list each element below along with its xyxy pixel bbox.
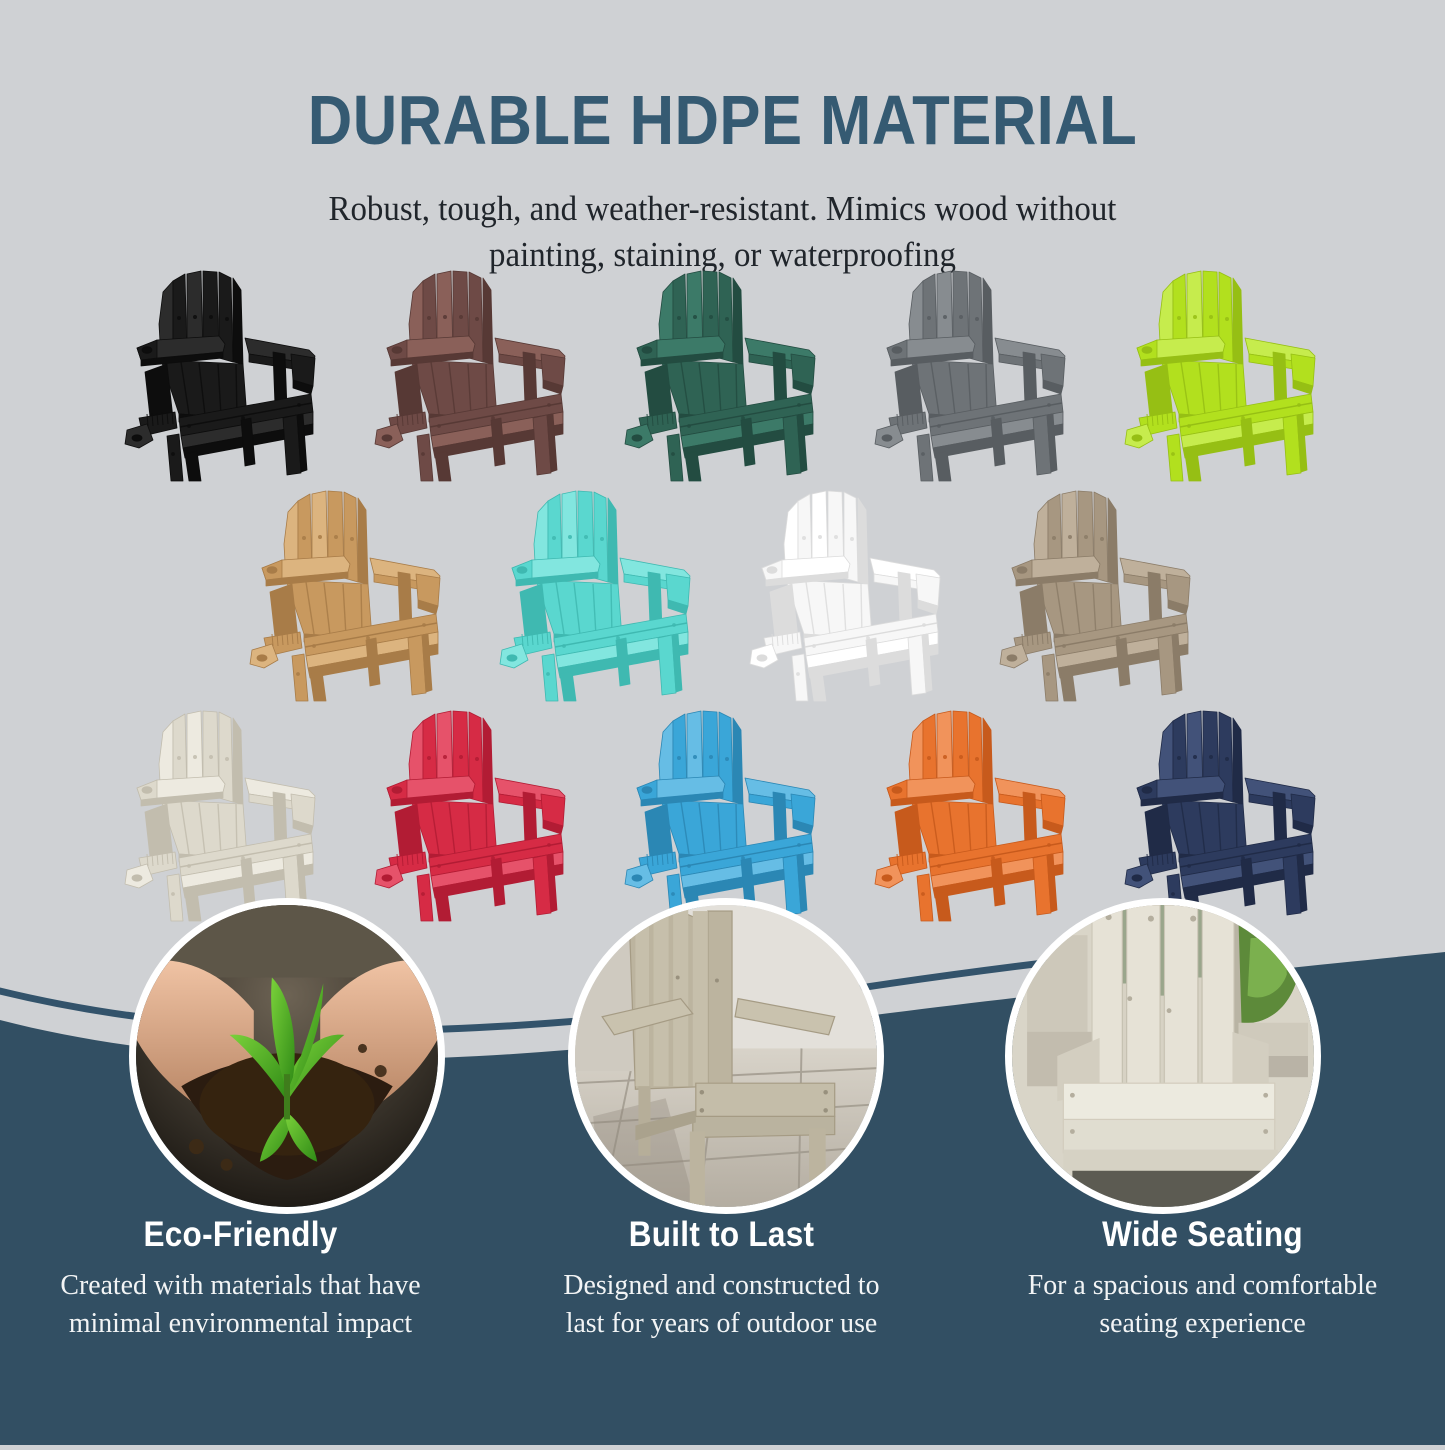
chair-swatch-brown[interactable] <box>348 268 598 483</box>
chair-red <box>348 708 598 923</box>
feature-description: For a spacious and comfortable seating e… <box>991 1267 1414 1342</box>
feature-built-to-last: Built to Last Designed and constructed t… <box>481 1215 962 1342</box>
feature-desc-line-1: Created with materials that have <box>29 1267 452 1305</box>
chair-swatch-white[interactable] <box>723 488 973 703</box>
chair-row-1 <box>0 268 1445 483</box>
feature-title: Wide Seating <box>1004 1215 1401 1255</box>
chair-lime-green <box>1098 268 1348 483</box>
chair-swatch-red[interactable] <box>348 708 598 923</box>
seedling-in-hands-photo <box>129 898 445 1214</box>
chair-turquoise <box>473 488 723 703</box>
chair-teak <box>223 488 473 703</box>
feature-wide-seating: Wide Seating For a spacious and comforta… <box>962 1215 1443 1342</box>
features-row: Eco-Friendly Created with materials that… <box>0 1215 1445 1342</box>
wide-seat-closeup-photo <box>1005 898 1321 1214</box>
chair-gray <box>848 268 1098 483</box>
feature-title: Eco-Friendly <box>42 1215 439 1255</box>
page-title: DURABLE HDPE MATERIAL <box>87 80 1359 160</box>
beige-chair-on-patio-photo <box>568 898 884 1214</box>
chair-swatch-lime-green[interactable] <box>1098 268 1348 483</box>
chair-swatch-dark-green[interactable] <box>598 268 848 483</box>
chair-swatch-weathered-wood[interactable] <box>973 488 1223 703</box>
chair-white <box>723 488 973 703</box>
chair-swatch-teak[interactable] <box>223 488 473 703</box>
feature-description: Created with materials that have minimal… <box>29 1267 452 1342</box>
chair-swatch-ivory[interactable] <box>98 708 348 923</box>
chair-brown <box>348 268 598 483</box>
feature-desc-line-2: minimal environmental impact <box>29 1305 452 1343</box>
feature-desc-line-2: last for years of outdoor use <box>510 1305 933 1343</box>
chair-swatch-orange[interactable] <box>848 708 1098 923</box>
feature-title: Built to Last <box>523 1215 920 1255</box>
chair-row-2 <box>0 488 1445 703</box>
subtitle-line-1: Robust, tough, and weather-resistant. Mi… <box>43 186 1401 232</box>
feature-desc-line-1: Designed and constructed to <box>510 1267 933 1305</box>
chair-black <box>98 268 348 483</box>
chair-light-blue <box>598 708 848 923</box>
chair-dark-green <box>598 268 848 483</box>
chair-color-grid <box>0 268 1445 923</box>
chair-navy <box>1098 708 1348 923</box>
chair-swatch-gray[interactable] <box>848 268 1098 483</box>
feature-desc-line-1: For a spacious and comfortable <box>991 1267 1414 1305</box>
chair-orange <box>848 708 1098 923</box>
chair-ivory <box>98 708 348 923</box>
chair-swatch-navy[interactable] <box>1098 708 1348 923</box>
chair-swatch-black[interactable] <box>98 268 348 483</box>
feature-desc-line-2: seating experience <box>991 1305 1414 1343</box>
feature-description: Designed and constructed to last for yea… <box>510 1267 933 1342</box>
chair-swatch-turquoise[interactable] <box>473 488 723 703</box>
header: DURABLE HDPE MATERIAL Robust, tough, and… <box>0 0 1445 278</box>
feature-eco-friendly: Eco-Friendly Created with materials that… <box>0 1215 481 1342</box>
chair-row-3 <box>0 708 1445 923</box>
page-subtitle: Robust, tough, and weather-resistant. Mi… <box>43 186 1401 278</box>
chair-swatch-light-blue[interactable] <box>598 708 848 923</box>
chair-weathered-wood <box>973 488 1223 703</box>
